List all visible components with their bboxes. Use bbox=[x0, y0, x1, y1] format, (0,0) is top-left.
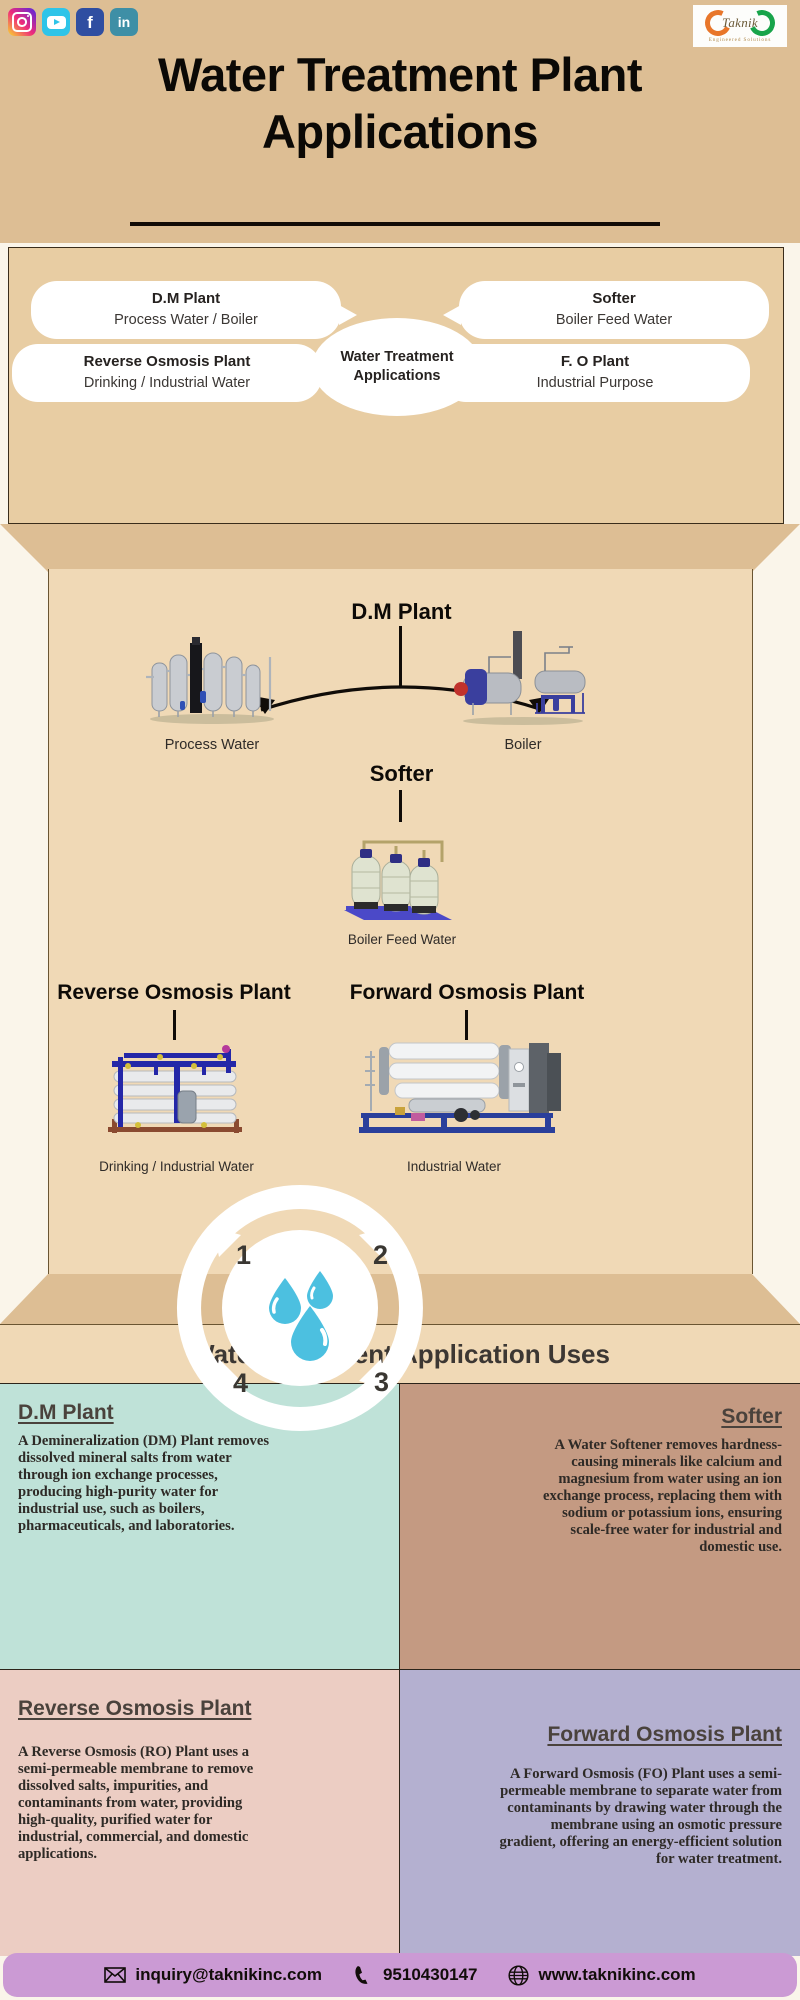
contact-website-text: www.taknikinc.com bbox=[539, 1965, 696, 1985]
diagram-panel: D.M Plant bbox=[48, 569, 753, 1274]
infographic-page: f in Taknik Engineered Solutions Water T… bbox=[0, 0, 800, 2000]
quadrant-forward-osmosis: Forward Osmosis Plant A Forward Osmosis … bbox=[400, 1670, 800, 1956]
quadrant-ro-body: A Reverse Osmosis (RO) Plant uses a semi… bbox=[18, 1744, 268, 1863]
logo-tagline: Engineered Solutions bbox=[709, 37, 772, 43]
uses-heading: Water Treatment Application Uses bbox=[190, 1339, 610, 1370]
applications-hub-label: Water Treatment Applications bbox=[312, 348, 482, 386]
process-water-plant-image bbox=[142, 631, 282, 726]
quadrant-number-1: 1 bbox=[236, 1240, 251, 1271]
social-links: f in bbox=[8, 8, 138, 36]
quadrant-reverse-osmosis: Reverse Osmosis Plant A Reverse Osmosis … bbox=[0, 1670, 400, 1956]
forward-osmosis-plant-image bbox=[349, 1027, 564, 1145]
bubble-softer-title: Softer bbox=[592, 290, 635, 309]
page-title: Water Treatment Plant Applications bbox=[0, 46, 800, 161]
instagram-icon[interactable] bbox=[8, 8, 36, 36]
bubble-ro-subtitle: Drinking / Industrial Water bbox=[84, 374, 250, 393]
quadrant-softer-heading: Softer bbox=[418, 1404, 782, 1430]
quadrant-fo-body: A Forward Osmosis (FO) Plant uses a semi… bbox=[492, 1766, 782, 1868]
quadrant-softer-body: A Water Softener removes hardness-causin… bbox=[527, 1437, 782, 1556]
diagram-dm-left-caption: Process Water bbox=[137, 737, 287, 753]
contact-email[interactable]: inquiry@taknikinc.com bbox=[104, 1964, 322, 1986]
diagram-softener-label: Softer bbox=[49, 761, 754, 787]
facebook-icon[interactable]: f bbox=[76, 8, 104, 36]
logo-mark: Taknik bbox=[696, 9, 784, 36]
uses-quadrant-grid: D.M Plant A Demineralization (DM) Plant … bbox=[0, 1384, 800, 1956]
bubble-fo-subtitle: Industrial Purpose bbox=[537, 374, 654, 393]
contact-footer: inquiry@taknikinc.com 9510430147 www.tak… bbox=[3, 1953, 797, 1997]
applications-hub: Water Treatment Applications bbox=[312, 318, 482, 416]
bubble-ro-title: Reverse Osmosis Plant bbox=[84, 353, 251, 372]
contact-website[interactable]: www.taknikinc.com bbox=[508, 1964, 696, 1986]
bubble-dm-plant[interactable]: D.M Plant Process Water / Boiler bbox=[31, 281, 341, 339]
contact-email-text: inquiry@taknikinc.com bbox=[135, 1965, 322, 1985]
quadrant-number-2: 2 bbox=[373, 1240, 388, 1271]
bubble-dm-title: D.M Plant bbox=[152, 290, 220, 309]
linkedin-icon[interactable]: in bbox=[110, 8, 138, 36]
diagram-dm-right-caption: Boiler bbox=[449, 737, 597, 753]
logo-wordmark: Taknik bbox=[722, 15, 758, 31]
banner-top-trapezoid bbox=[0, 524, 800, 572]
uses-heading-band: Water Treatment Application Uses bbox=[0, 1324, 800, 1384]
diagram-fo-label: Forward Osmosis Plant bbox=[307, 981, 627, 1005]
page-title-line1: Water Treatment Plant bbox=[0, 46, 800, 103]
globe-icon bbox=[508, 1964, 530, 1986]
envelope-icon bbox=[104, 1964, 126, 1986]
applications-card: D.M Plant Process Water / Boiler Softer … bbox=[8, 247, 784, 524]
bubble-reverse-osmosis[interactable]: Reverse Osmosis Plant Drinking / Industr… bbox=[12, 344, 322, 402]
page-title-line2: Applications bbox=[0, 103, 800, 160]
diagram-dm-label: D.M Plant bbox=[49, 599, 754, 625]
contact-phone[interactable]: 9510430147 bbox=[352, 1964, 478, 1986]
diagram-softener-caption: Boiler Feed Water bbox=[302, 932, 502, 947]
quadrant-ro-heading: Reverse Osmosis Plant bbox=[18, 1696, 381, 1722]
quadrant-number-4: 4 bbox=[233, 1368, 248, 1399]
contact-phone-text: 9510430147 bbox=[383, 1965, 478, 1985]
diagram-ro-label: Reverse Osmosis Plant bbox=[14, 981, 334, 1005]
quadrant-dm-heading: D.M Plant bbox=[18, 1400, 381, 1426]
quadrant-fo-heading: Forward Osmosis Plant bbox=[418, 1722, 782, 1748]
bubble-fo-plant[interactable]: F. O Plant Industrial Purpose bbox=[440, 344, 750, 402]
bubble-dm-subtitle: Process Water / Boiler bbox=[114, 311, 258, 330]
quadrant-dm-body: A Demineralization (DM) Plant removes di… bbox=[18, 1433, 280, 1535]
header-band: f in Taknik Engineered Solutions Water T… bbox=[0, 0, 800, 243]
bubble-softer-subtitle: Boiler Feed Water bbox=[556, 311, 672, 330]
banner-bottom-trapezoid bbox=[0, 1274, 800, 1324]
quadrant-softer: Softer A Water Softener removes hardness… bbox=[400, 1384, 800, 1670]
diagram-fo-caption: Industrial Water bbox=[354, 1159, 554, 1174]
bubble-softer[interactable]: Softer Boiler Feed Water bbox=[459, 281, 769, 339]
quadrant-number-3: 3 bbox=[374, 1367, 389, 1398]
company-logo: Taknik Engineered Solutions bbox=[693, 5, 787, 47]
title-underline bbox=[130, 222, 660, 226]
bubble-fo-title: F. O Plant bbox=[561, 353, 629, 372]
youtube-icon[interactable] bbox=[42, 8, 70, 36]
boiler-image bbox=[449, 627, 597, 727]
softener-image bbox=[334, 832, 462, 924]
quadrant-dm-plant: D.M Plant A Demineralization (DM) Plant … bbox=[0, 1384, 400, 1670]
phone-icon bbox=[352, 1964, 374, 1986]
reverse-osmosis-plant-image bbox=[94, 1035, 259, 1140]
diagram-ro-caption: Drinking / Industrial Water bbox=[64, 1159, 289, 1174]
diagram-softener-connector bbox=[399, 790, 402, 822]
